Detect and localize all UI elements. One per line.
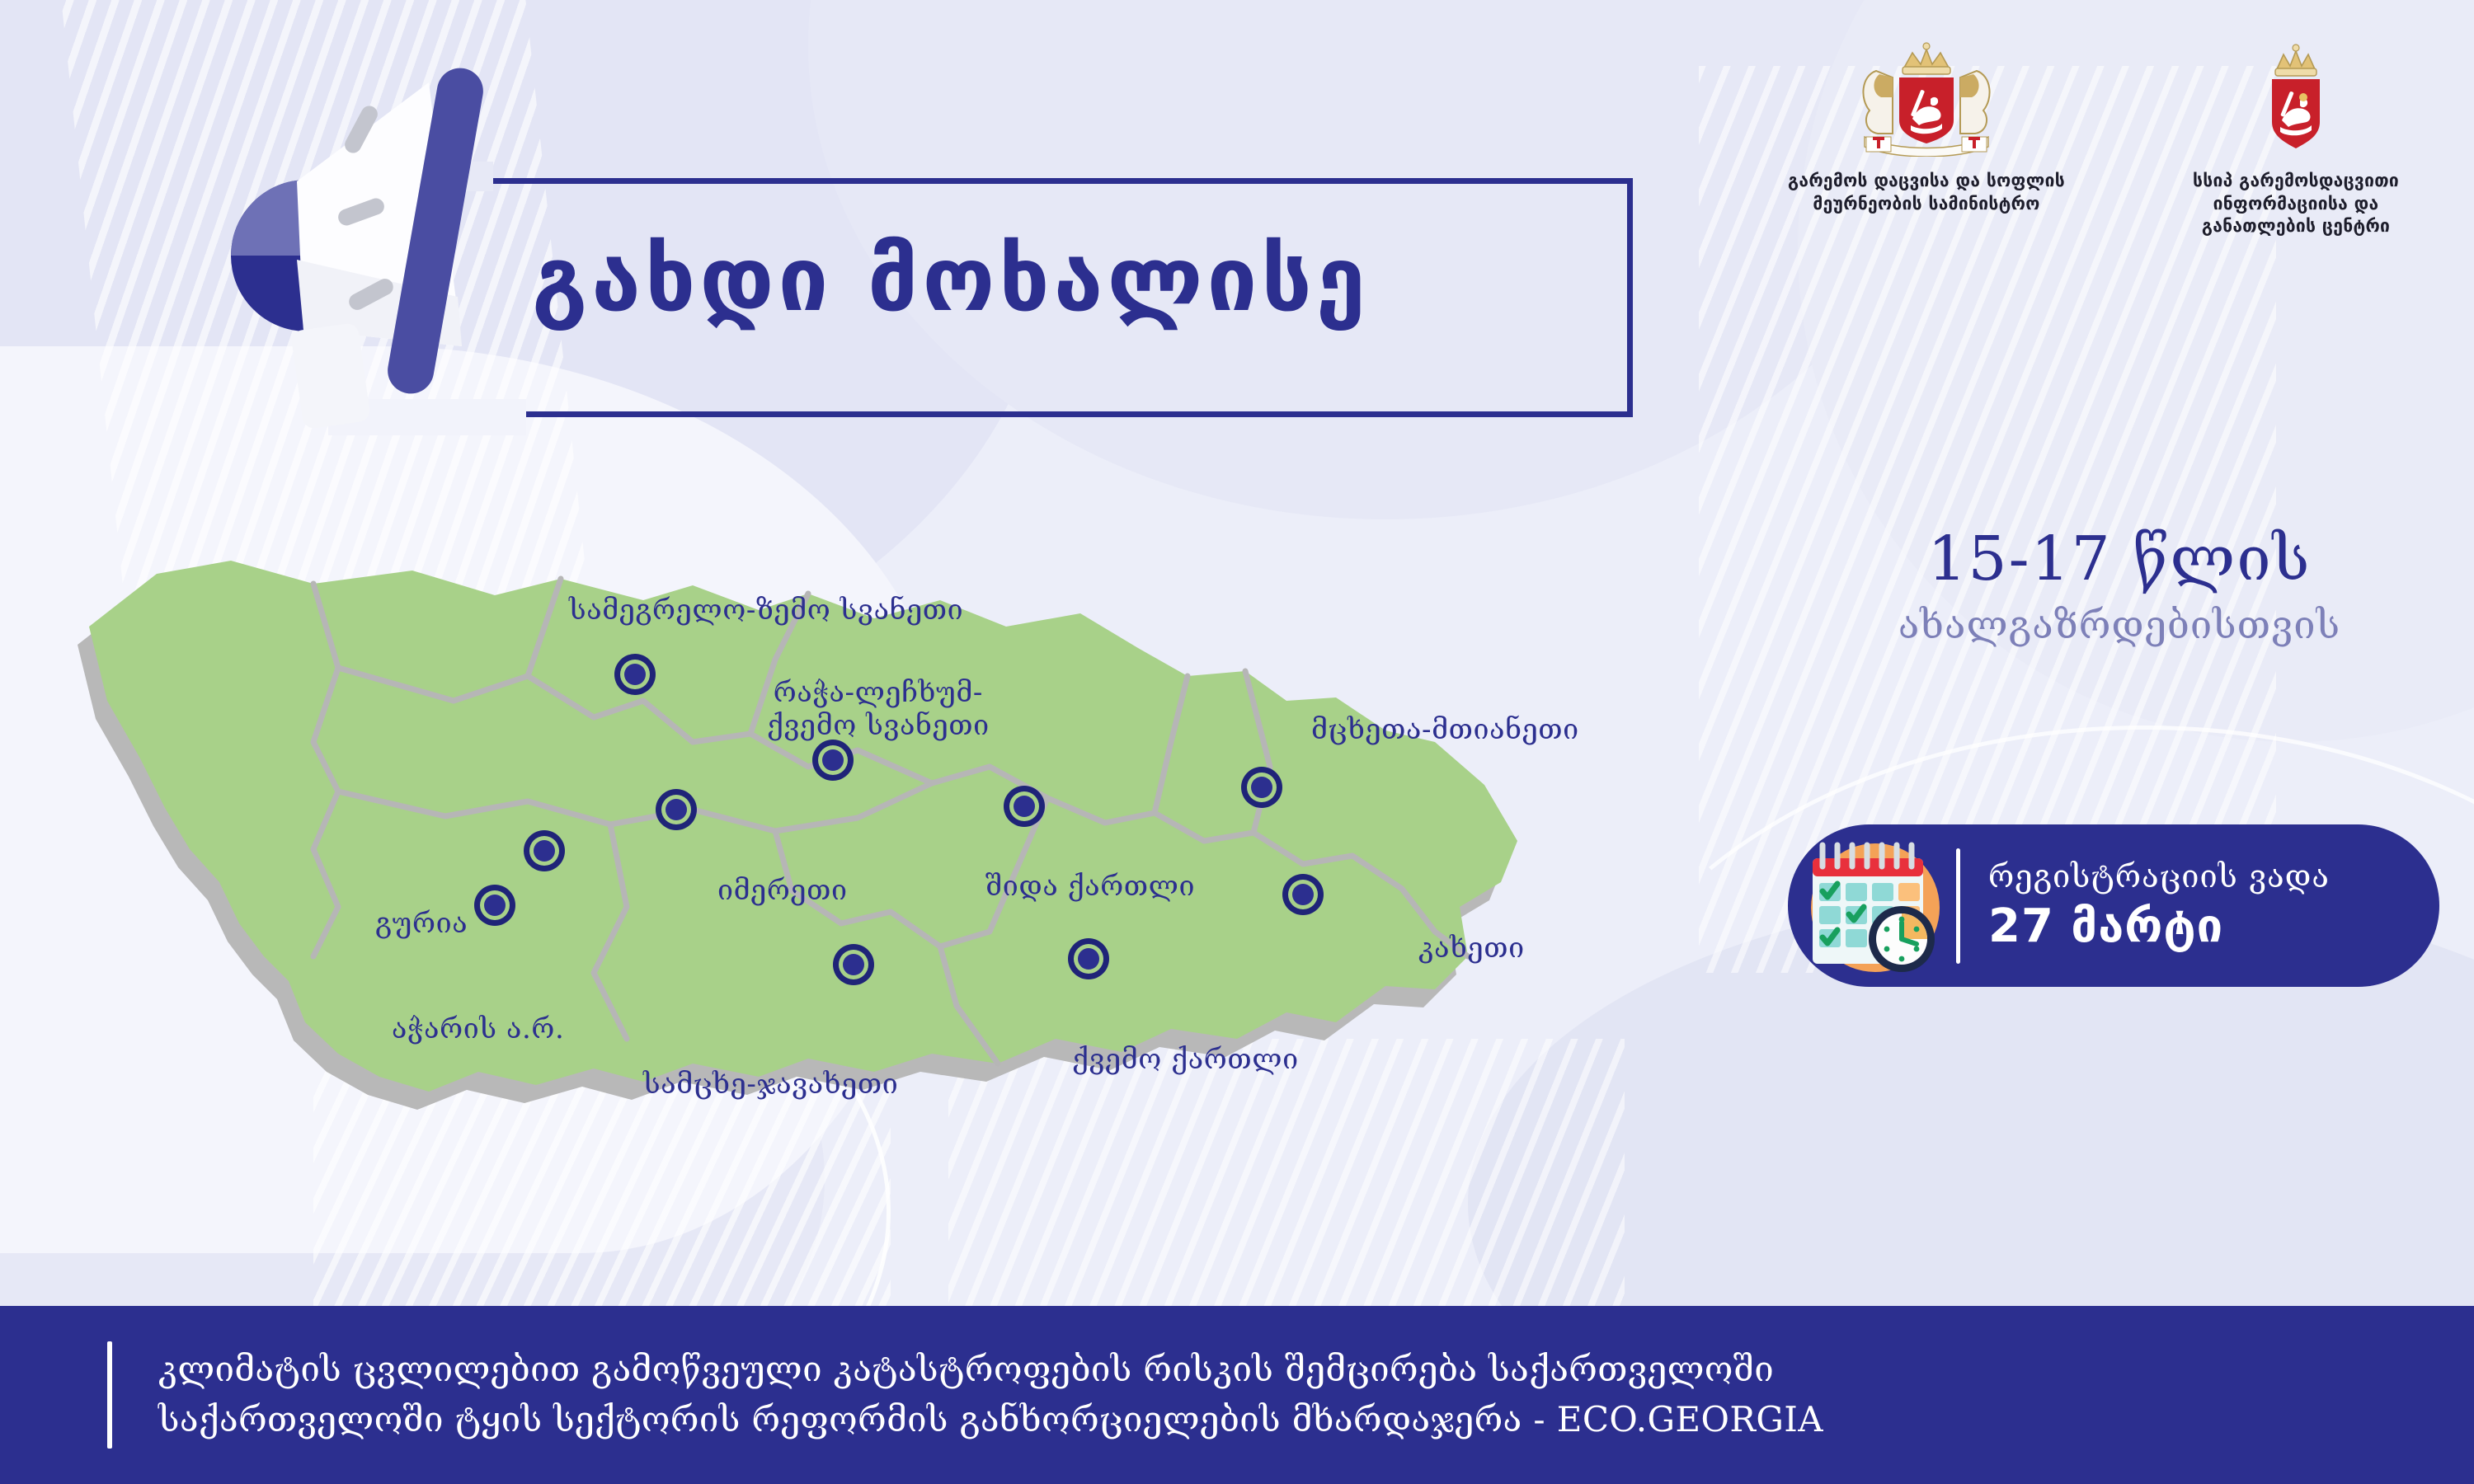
map-region-label: მცხეთა-მთიანეთი [1311,713,1579,746]
map-region-label: სამეგრელო-ზემო სვანეთი [569,594,963,627]
ministry-logo: გარემოს დაცვისა და სოფლის მეურნეობის სამ… [1760,40,2093,215]
megaphone-icon [132,49,561,445]
map-pin[interactable] [1068,938,1109,979]
georgia-shield-crown-icon [2255,40,2336,157]
map-pin[interactable] [614,654,656,695]
map-pin[interactable] [1241,767,1282,808]
footer-line-2: საქართველოში ტყის სექტორის რეფორმის განხ… [158,1395,1823,1445]
map-region-label: შიდა ქართლი [985,870,1195,903]
map-pin[interactable] [812,740,854,781]
map-region-label: აჭარის ა.რ. [392,1012,564,1045]
deadline-date: 27 მარტი [1988,899,2330,953]
logo-group: გარემოს დაცვისა და სოფლის მეურნეობის სამ… [1760,40,2420,238]
map-pin[interactable] [833,944,874,985]
footer-text: კლიმატის ცვლილებით გამოწვეული კატასტროფე… [158,1345,1823,1445]
map-pin[interactable] [474,885,515,926]
map-region-label: იმერეთი [717,874,848,907]
pill-divider [1956,848,1960,964]
center-logo-line-1: სსიპ გარემოსდაცვითი [2172,170,2420,193]
map-region-label: კახეთი [1418,932,1525,965]
map-pin[interactable] [1282,874,1324,915]
footer-line-1: კლიმატის ცვლილებით გამოწვეული კატასტროფე… [158,1345,1823,1395]
ministry-logo-line-2: მეურნეობის სამინისტრო [1760,193,2093,216]
center-logo: სსიპ გარემოსდაცვითი ინფორმაციისა და განა… [2172,40,2420,238]
map-region-label: სამცხე-ჯავახეთი [643,1068,898,1101]
age-range-text: 15-17 წლის [1790,524,2449,594]
map-region-label: ქვემო ქართლი [1072,1043,1299,1076]
footer-accent-bar [107,1341,112,1449]
registration-deadline-badge: რეგისტრაციის ვადა 27 მარტი [1788,824,2439,987]
footer-banner: კლიმატის ცვლილებით გამოწვეული კატასტროფე… [0,1306,2474,1484]
page-title: გახდი მოხალისე [532,236,1370,325]
map-region-label-line: რაჭა-ლეჩხუმ- [767,676,990,709]
georgia-coat-of-arms-icon [1850,40,2003,157]
center-logo-text: სსიპ გარემოსდაცვითი ინფორმაციისა და განა… [2172,170,2420,238]
map-region-label-line: ქვემო სვანეთი [767,709,990,742]
calendar-clock-icon [1801,832,1950,980]
map-region-label: გურია [375,907,468,940]
deadline-label: რეგისტრაციის ვადა [1988,858,2330,895]
center-logo-line-3: განათლების ცენტრი [2172,215,2420,238]
map-region-label: რაჭა-ლეჩხუმ-ქვემო სვანეთი [767,676,990,742]
center-logo-line-2: ინფორმაციისა და [2172,193,2420,216]
map-pin[interactable] [1004,786,1045,827]
map-pin[interactable] [524,830,565,871]
ministry-logo-text: გარემოს დაცვისა და სოფლის მეურნეობის სამ… [1760,170,2093,215]
audience-info: 15-17 წლის ახალგაზრდებისთვის [1790,524,2449,648]
ministry-logo-line-1: გარემოს დაცვისა და სოფლის [1760,170,2093,193]
audience-description-text: ახალგაზრდებისთვის [1790,603,2449,648]
map-pin[interactable] [656,789,697,830]
